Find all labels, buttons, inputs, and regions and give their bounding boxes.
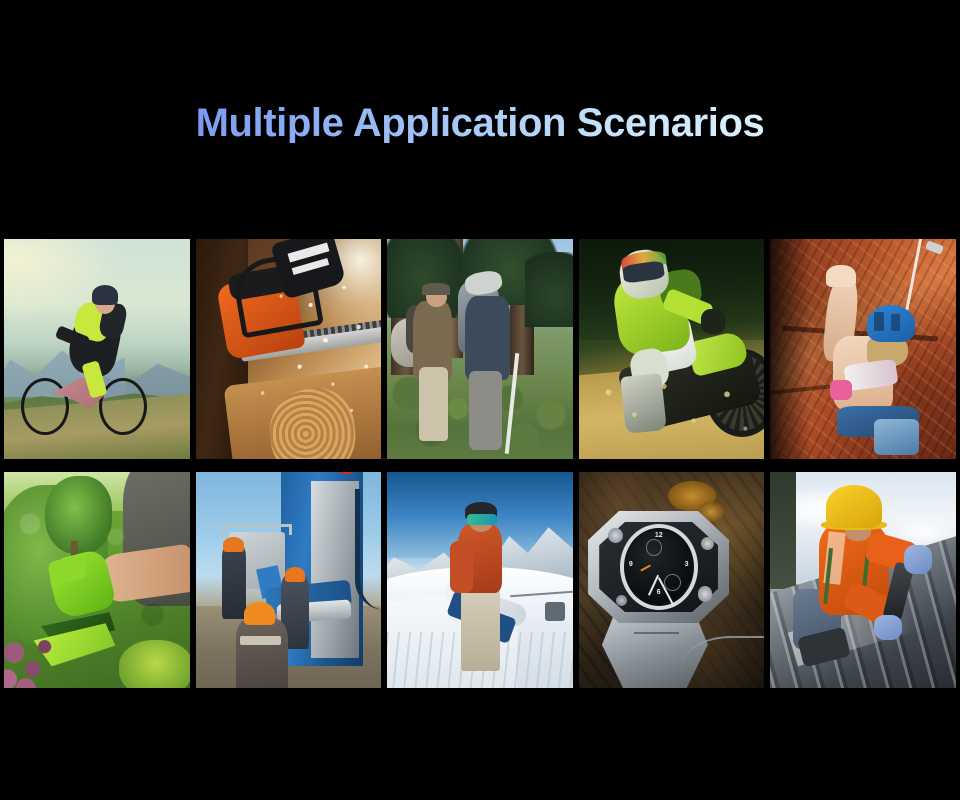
snowboarder-pants [461, 584, 500, 670]
worker-one-helmet [223, 537, 243, 552]
bicycle-wheel-front [21, 378, 69, 435]
watch-strap-detail [634, 632, 679, 634]
hiker-one-cap [422, 283, 450, 295]
purple-flowers [4, 623, 82, 688]
scenario-card-construction-drilling[interactable] [196, 472, 382, 688]
hiker-two-legs [469, 371, 502, 450]
scenario-card-gardening[interactable] [4, 472, 190, 688]
scenario-image-construction-drilling [196, 472, 382, 688]
scenario-image-snowboarding [387, 472, 573, 688]
watch-numeral-3: 3 [685, 561, 689, 568]
helmet-vent-left [874, 312, 883, 332]
worker-three-body [236, 619, 288, 688]
hydraulic-hose [355, 489, 381, 610]
worker-three-helmet [244, 602, 276, 626]
scenario-card-chainsaw-logging[interactable] [196, 239, 382, 459]
ski-lift-gondola [545, 602, 565, 621]
scenario-card-mountain-biking[interactable] [4, 239, 190, 459]
watch-numeral-6: 6 [657, 589, 661, 596]
page-title: Multiple Application Scenarios [196, 103, 765, 143]
flying-wood-chips [196, 239, 382, 459]
watch-button-lower-right [698, 586, 713, 601]
cyclist-helmet [92, 285, 118, 305]
page-title-container: Multiple Application Scenarios [0, 103, 960, 143]
worker-one-body [222, 545, 246, 618]
dirt-spray [579, 358, 765, 459]
hiker-one-legs [419, 367, 449, 442]
scenario-image-chainsaw-logging [196, 239, 382, 459]
scenario-image-hiking-trekking [387, 239, 573, 459]
rock-shadow [770, 239, 811, 459]
snow-goggles [467, 514, 497, 525]
watch-numeral-9: 9 [629, 561, 633, 568]
chalk-bag [830, 380, 852, 400]
rider-glove [701, 309, 725, 333]
scenario-image-gardening [4, 472, 190, 688]
blue-glove-upper [904, 545, 932, 573]
watch-numeral-12: 12 [655, 532, 663, 539]
scenario-card-rock-climbing[interactable] [770, 239, 956, 459]
scenario-card-snowboarding[interactable] [387, 472, 573, 688]
drilling-rig-metal [311, 481, 359, 658]
scenario-card-rugged-smartwatch[interactable]: 12 3 6 9 [579, 472, 765, 688]
foreground-bush [119, 640, 190, 688]
scenario-image-rock-climbing [770, 239, 956, 459]
scenario-card-hiking-trekking[interactable] [387, 239, 573, 459]
scenario-image-mountain-biking [4, 239, 190, 459]
yellow-hard-hat [826, 485, 882, 528]
helmet-vent-right [891, 314, 900, 332]
dark-tree-edge [770, 472, 796, 589]
worker-two-helmet [285, 567, 305, 582]
bicycle-wheel-rear [99, 378, 147, 435]
watch-subdial-bottom [664, 574, 681, 591]
blue-glove-lower [874, 615, 902, 641]
scenario-image-grid: 12 3 6 9 [0, 239, 960, 688]
watch-button-upper-right [701, 537, 714, 550]
scenario-image-rugged-smartwatch: 12 3 6 9 [579, 472, 765, 688]
worker-three-reflective-stripe [240, 636, 281, 645]
scenario-card-motocross-riding[interactable] [579, 239, 765, 459]
scenario-card-roofing-work[interactable] [770, 472, 956, 688]
scenario-image-motocross-riding [579, 239, 765, 459]
harness-gear-loop [874, 419, 919, 454]
hiker-two-body [465, 296, 510, 380]
application-scenarios-banner: Multiple Application Scenarios [0, 0, 960, 800]
snowboarder-arm [450, 541, 472, 593]
forest-canopy-right [525, 252, 573, 327]
climber-hand [826, 265, 856, 287]
watch-button-lower-left [616, 595, 627, 606]
scenario-image-roofing-work [770, 472, 956, 688]
